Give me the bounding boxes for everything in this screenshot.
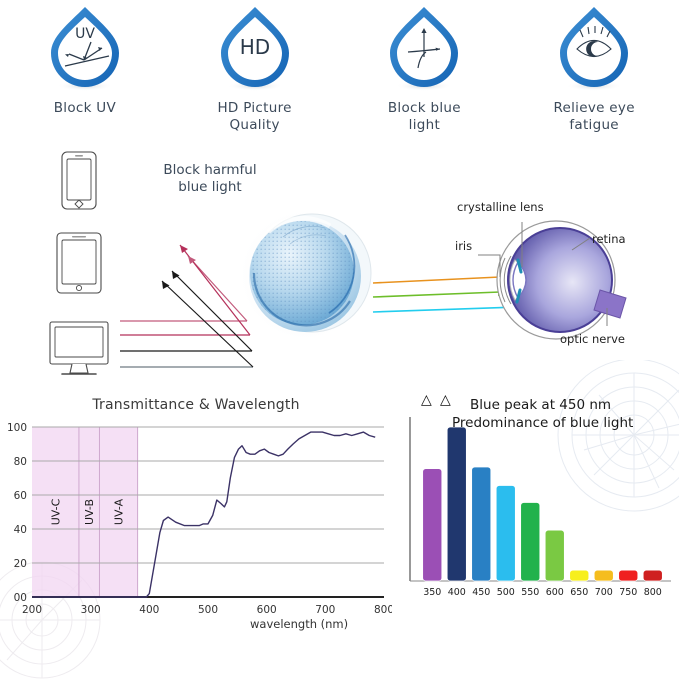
bar-tick-label: 600	[546, 587, 564, 598]
y-tick-label: 20	[14, 558, 27, 570]
x-tick-label: 400	[139, 604, 159, 616]
bar-tick-label: 350	[423, 587, 441, 598]
bar	[545, 530, 564, 581]
blocked-ray-arrowheads	[162, 245, 196, 289]
bar-tick-label: 750	[619, 587, 637, 598]
bar	[643, 570, 662, 581]
feature-label: HD PictureQuality	[217, 100, 291, 134]
y-tick-label: 60	[14, 490, 27, 502]
bar-tick-label: 500	[497, 587, 515, 598]
line-chart-canvas: UV-CUV-BUV-A0020406080100200300400500600…	[0, 385, 392, 654]
x-tick-label: 700	[315, 604, 335, 616]
predominance-annotation: Predominance of blue light	[452, 415, 633, 431]
infographic-root: UV Block UV	[0, 0, 679, 654]
eye-label-iris: iris	[455, 239, 472, 253]
triangle-marker-icon: △	[421, 393, 432, 407]
y-tick-label: 00	[14, 592, 27, 604]
bar-tick-label: 400	[448, 587, 466, 598]
feature-block-uv: UV Block UV	[0, 0, 170, 140]
phone-icon	[62, 152, 96, 209]
triangle-marker-icon: △	[440, 393, 451, 407]
bar-tick-label: 650	[570, 587, 588, 598]
bar-tick-label: 700	[595, 587, 613, 598]
y-tick-label: 100	[7, 422, 27, 434]
blue-light-blocking-lens-icon	[237, 207, 373, 343]
bar	[447, 427, 466, 581]
hd-icon-text: HD	[239, 35, 269, 59]
chart-title: Transmittance & Wavelength	[0, 397, 392, 413]
uv-band-label: UV-B	[83, 499, 96, 525]
x-tick-label: 300	[81, 604, 101, 616]
feature-label: Relieve eyefatigue	[553, 100, 634, 134]
monitor-icon	[50, 322, 108, 374]
x-axis-title: wavelength (nm)	[250, 617, 348, 631]
bar	[423, 469, 442, 581]
bar	[521, 503, 540, 582]
lens-eye-illustration: Block harmfulblue light	[0, 140, 679, 380]
y-tick-label: 40	[14, 524, 27, 536]
bar-tick-label: 450	[472, 587, 490, 598]
feature-hd-picture-quality: HD HD PictureQuality	[170, 0, 340, 140]
x-tick-label: 600	[257, 604, 277, 616]
bar	[619, 570, 638, 581]
x-tick-label: 200	[22, 604, 42, 616]
eye-label-retina: retina	[592, 232, 626, 246]
uv-shield-icon: UV	[39, 4, 131, 92]
eye-label-crystalline-lens: crystalline lens	[457, 200, 544, 214]
blue-light-spectrum-chart: △ △ Blue peak at 450 nm Predominance of …	[392, 385, 679, 654]
transmittance-wavelength-chart: Transmittance & Wavelength UV-CUV-BUV-A0…	[0, 385, 392, 654]
bar-tick-label: 550	[521, 587, 539, 598]
x-tick-label: 500	[198, 604, 218, 616]
uv-band-label: UV-A	[113, 498, 126, 525]
block-blue-light-icon	[378, 4, 470, 92]
blue-peak-annotation: Blue peak at 450 nm	[470, 397, 611, 413]
blocked-rays	[120, 245, 253, 367]
bar	[472, 467, 491, 581]
bar	[594, 570, 613, 581]
bar	[570, 570, 589, 581]
hd-quality-icon: HD	[209, 4, 301, 92]
feature-label: Block bluelight	[388, 100, 461, 134]
y-tick-label: 80	[14, 456, 27, 468]
bar-tick-label: 800	[644, 587, 662, 598]
charts-row: Transmittance & Wavelength UV-CUV-BUV-A0…	[0, 385, 679, 654]
bar	[496, 486, 515, 582]
svg-text:UV: UV	[75, 26, 95, 42]
x-tick-label: 800	[374, 604, 392, 616]
eye-label-optic-nerve: optic nerve	[560, 332, 625, 346]
uv-band-label: UV-C	[49, 498, 62, 525]
tablet-icon	[57, 233, 101, 293]
feature-block-blue-light: Block bluelight	[340, 0, 510, 140]
relieve-eye-fatigue-icon	[548, 4, 640, 92]
feature-row: UV Block UV	[0, 0, 679, 140]
feature-label: Block UV	[54, 100, 116, 117]
feature-relieve-eye-fatigue: Relieve eyefatigue	[509, 0, 679, 140]
